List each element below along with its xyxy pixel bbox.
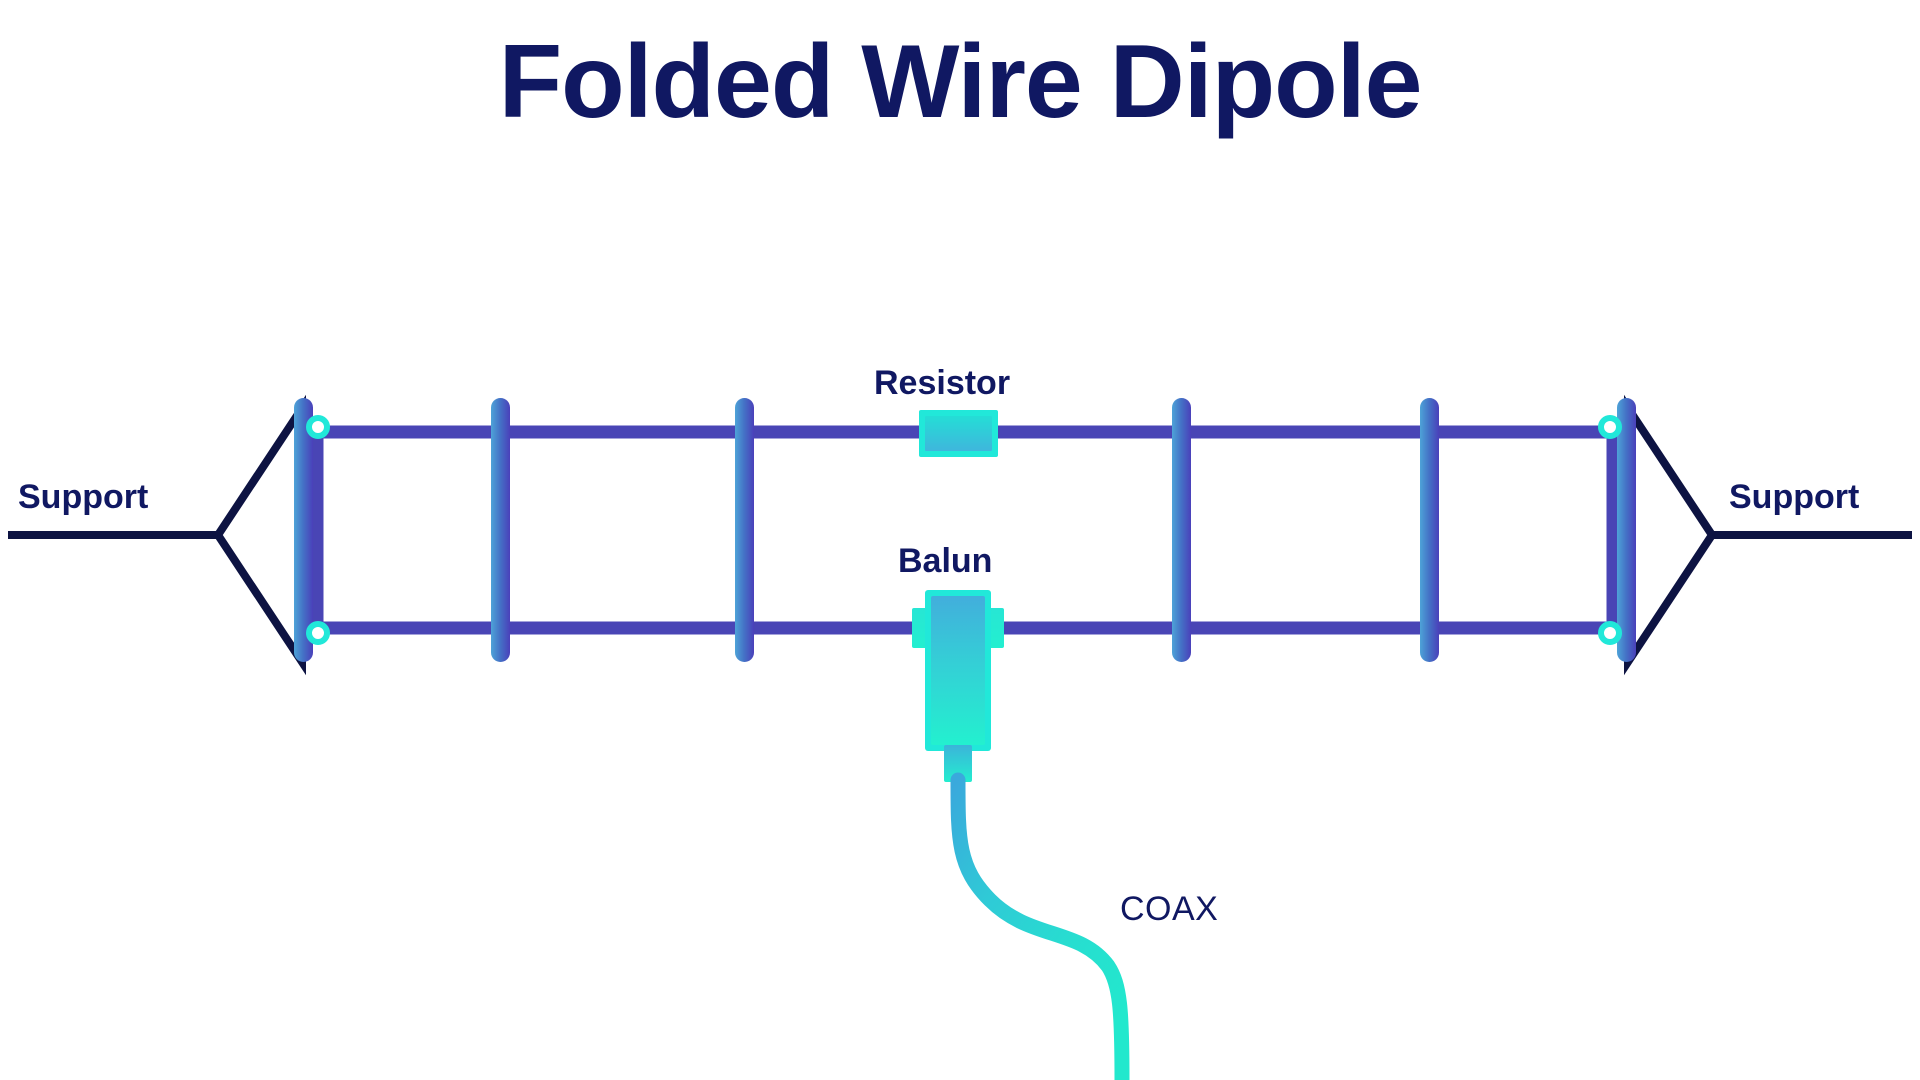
support-chevron-right bbox=[1628, 408, 1712, 662]
label-coax: COAX bbox=[1120, 890, 1218, 929]
spacer-bar bbox=[1617, 398, 1636, 662]
coax-cable bbox=[958, 780, 1122, 1080]
label-support-right: Support bbox=[1729, 478, 1859, 517]
spacer-bar bbox=[1172, 398, 1191, 662]
resistor-body bbox=[925, 416, 992, 451]
spacer-bar bbox=[735, 398, 754, 662]
label-support-left: Support bbox=[18, 478, 148, 517]
connector-ring bbox=[309, 624, 327, 642]
spacer-bar bbox=[491, 398, 510, 662]
balun-component[interactable] bbox=[912, 590, 1004, 782]
support-right-group bbox=[1628, 408, 1912, 662]
spacer-bar bbox=[1420, 398, 1439, 662]
folded-wire-dipole-diagram bbox=[0, 0, 1920, 1080]
label-balun: Balun bbox=[898, 542, 992, 581]
resistor-component[interactable] bbox=[919, 410, 998, 457]
support-chevron-left bbox=[218, 408, 302, 662]
label-resistor: Resistor bbox=[874, 364, 1010, 403]
connector-ring bbox=[309, 418, 327, 436]
balun-body bbox=[931, 596, 985, 745]
diagram-canvas: Folded Wire Dipole bbox=[0, 0, 1920, 1080]
support-left-group bbox=[8, 408, 302, 662]
spacer-bar bbox=[294, 398, 313, 662]
connector-ring bbox=[1601, 418, 1619, 436]
connector-ring bbox=[1601, 624, 1619, 642]
